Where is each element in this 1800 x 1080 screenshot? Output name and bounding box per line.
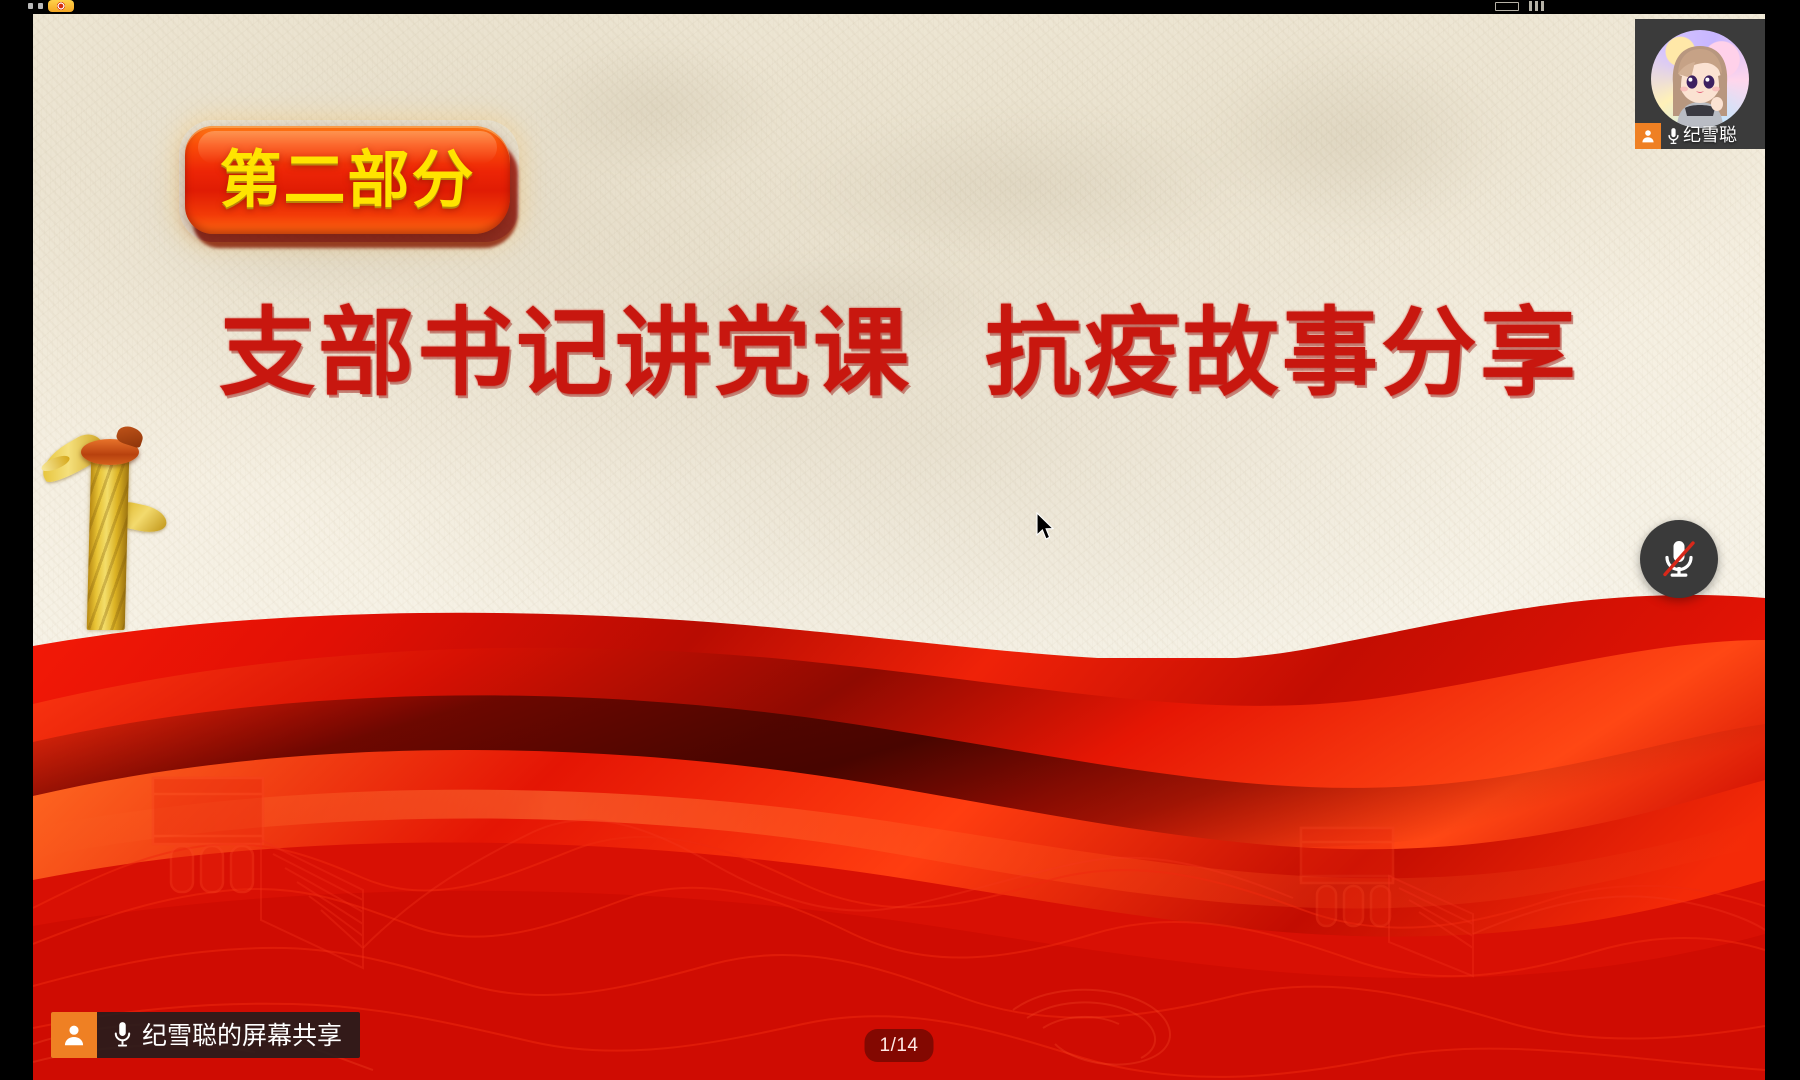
screen-share-label-text: 纪雪聪的屏幕共享: [142, 1023, 360, 1048]
shared-screen-viewport[interactable]: 第二部分 支部书记讲党课 抗疫故事分享: [33, 8, 1765, 1080]
battery-icon[interactable]: [1495, 2, 1519, 11]
meeting-toolbar: [0, 0, 1800, 14]
microphone-muted-icon: [1657, 536, 1701, 582]
screen-share-label: 纪雪聪的屏幕共享: [51, 1012, 360, 1058]
huabiao-column-icon: [41, 413, 171, 628]
window-icon[interactable]: [28, 3, 33, 9]
toolbar-left-group: [28, 0, 74, 12]
signal-icon[interactable]: [1529, 1, 1545, 11]
red-silk-ribbon: [33, 528, 1765, 1080]
app-badge-icon[interactable]: [48, 0, 74, 12]
silk-wave-shapes: [33, 528, 1765, 1080]
mute-microphone-button[interactable]: [1640, 520, 1718, 598]
section-badge-label: 第二部分: [219, 149, 475, 211]
slide-title: 支部书记讲党课 抗疫故事分享: [33, 303, 1765, 404]
page-indicator: 1/14: [865, 1029, 934, 1062]
microphone-icon: [111, 1020, 134, 1050]
screen-root: 第二部分 支部书记讲党课 抗疫故事分享: [0, 0, 1800, 1080]
person-icon: [1635, 123, 1661, 149]
toolbar-right-group: [1485, 0, 1545, 12]
avatar: [1651, 30, 1749, 128]
grid-icon[interactable]: [38, 3, 43, 9]
participant-name: 纪雪聪: [1683, 127, 1737, 145]
section-badge: 第二部分: [185, 126, 520, 248]
huabiao-shaft: [87, 455, 130, 630]
participant-video-tile[interactable]: 纪雪聪: [1635, 19, 1765, 149]
video-tile-footer: 纪雪聪: [1635, 123, 1765, 149]
section-badge-plate: 第二部分: [185, 126, 510, 234]
person-icon: [51, 1012, 97, 1058]
microphone-icon: [1666, 126, 1681, 147]
avatar-illustration: [1651, 30, 1749, 128]
